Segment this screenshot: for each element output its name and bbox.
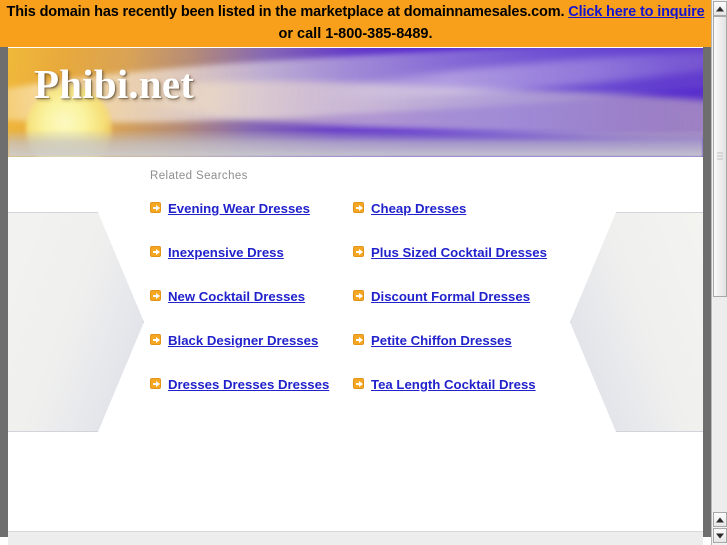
orange-right-arrow-icon bbox=[150, 334, 161, 345]
orange-right-arrow-icon bbox=[150, 290, 161, 301]
orange-right-arrow-icon bbox=[150, 246, 161, 257]
related-search-link[interactable]: Tea Length Cocktail Dress bbox=[371, 375, 536, 395]
site-header-banner: Phibi.net bbox=[8, 48, 703, 157]
list-item[interactable]: Discount Formal Dresses bbox=[353, 287, 558, 307]
list-item[interactable]: Plus Sized Cocktail Dresses bbox=[353, 243, 558, 263]
list-item[interactable]: Inexpensive Dress bbox=[150, 243, 355, 263]
scroll-up-button[interactable] bbox=[713, 1, 727, 16]
related-search-link[interactable]: Plus Sized Cocktail Dresses bbox=[371, 243, 547, 263]
orange-right-arrow-icon bbox=[150, 202, 161, 213]
related-search-link[interactable]: Petite Chiffon Dresses bbox=[371, 331, 512, 351]
list-item[interactable]: Evening Wear Dresses bbox=[150, 199, 355, 219]
vertical-scrollbar[interactable] bbox=[711, 0, 727, 545]
banner-line-1: This domain has recently been listed in … bbox=[0, 2, 711, 23]
orange-right-arrow-icon bbox=[353, 246, 364, 257]
page-right-border bbox=[703, 47, 711, 537]
horizon-haze bbox=[8, 131, 703, 157]
triangle-down-icon bbox=[716, 533, 724, 538]
triangle-up-icon bbox=[716, 6, 724, 11]
domain-marketplace-banner: This domain has recently been listed in … bbox=[0, 0, 711, 47]
orange-right-arrow-icon bbox=[150, 378, 161, 389]
list-item[interactable]: Tea Length Cocktail Dress bbox=[353, 375, 558, 395]
related-search-link[interactable]: Black Designer Dresses bbox=[168, 331, 318, 351]
scrollbar-thumb[interactable] bbox=[713, 16, 727, 297]
related-searches-heading: Related Searches bbox=[150, 170, 248, 182]
banner-notice-text: This domain has recently been listed in … bbox=[6, 4, 564, 20]
related-search-link[interactable]: Discount Formal Dresses bbox=[371, 287, 530, 307]
related-search-link[interactable]: New Cocktail Dresses bbox=[168, 287, 305, 307]
page-left-border bbox=[0, 47, 8, 537]
scrollbar-grip-icon bbox=[717, 152, 723, 161]
related-search-link[interactable]: Inexpensive Dress bbox=[168, 243, 284, 263]
click-here-to-inquire-link[interactable]: Click here to inquire bbox=[568, 4, 704, 20]
list-item[interactable]: Cheap Dresses bbox=[353, 199, 558, 219]
page-bottom-strip bbox=[8, 531, 703, 545]
related-searches-column-right: Cheap Dresses Plus Sized Cocktail Dresse… bbox=[353, 199, 558, 419]
orange-right-arrow-icon bbox=[353, 378, 364, 389]
scroll-up-button-bottom[interactable] bbox=[713, 512, 727, 527]
list-item[interactable]: Black Designer Dresses bbox=[150, 331, 355, 351]
browser-viewport: This domain has recently been listed in … bbox=[0, 0, 727, 545]
banner-phone-line: or call 1-800-385-8489. bbox=[0, 24, 711, 45]
site-logo: Phibi.net bbox=[34, 60, 194, 108]
list-item[interactable]: Petite Chiffon Dresses bbox=[353, 331, 558, 351]
decorative-chevron-left bbox=[8, 212, 144, 432]
scroll-down-button[interactable] bbox=[713, 528, 727, 543]
orange-right-arrow-icon bbox=[353, 334, 364, 345]
decorative-chevron-right bbox=[570, 212, 703, 432]
related-search-link[interactable]: Cheap Dresses bbox=[371, 199, 466, 219]
related-searches-column-left: Evening Wear Dresses Inexpensive Dress N… bbox=[150, 199, 355, 419]
main-content-area: Related Searches Evening Wear Dresses In… bbox=[8, 157, 703, 531]
list-item[interactable]: New Cocktail Dresses bbox=[150, 287, 355, 307]
related-search-link[interactable]: Evening Wear Dresses bbox=[168, 199, 310, 219]
orange-right-arrow-icon bbox=[353, 290, 364, 301]
related-search-link[interactable]: Dresses Dresses Dresses bbox=[168, 375, 329, 395]
orange-right-arrow-icon bbox=[353, 202, 364, 213]
list-item[interactable]: Dresses Dresses Dresses bbox=[150, 375, 355, 395]
triangle-up-icon bbox=[716, 517, 724, 522]
